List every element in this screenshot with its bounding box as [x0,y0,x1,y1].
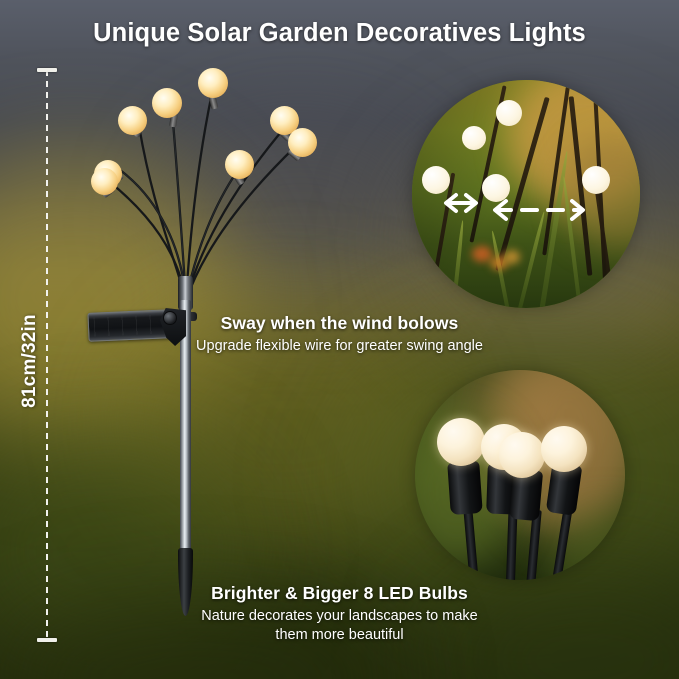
feature-image-sway [412,80,640,308]
led-bulb [91,168,118,195]
feature-image-bulbs [415,370,625,580]
feature-subtext: Upgrade flexible wire for greater swing … [0,337,679,356]
feature-subtext-line1: Nature decorates your landscapes to make [0,607,679,626]
sway-annotation-arrows [412,80,640,308]
led-bulb-closeup [437,418,485,466]
bulb-holder [447,461,483,515]
led-bulb-closeup [499,432,545,478]
led-bulb [118,106,147,135]
led-bulb [198,68,228,98]
feature-heading: Sway when the wind bolows [0,313,679,334]
feature-heading: Brighter & Bigger 8 LED Bulbs [0,583,679,604]
feature-subtext-line2: them more beautiful [0,626,679,645]
product-infographic: Unique Solar Garden Decoratives Lights 8… [0,0,679,679]
feature-caption-sway: Sway when the wind bolows Upgrade flexib… [0,313,679,356]
led-bulb-closeup [541,426,587,472]
feature-caption-bulbs: Brighter & Bigger 8 LED Bulbs Nature dec… [0,583,679,644]
led-bulb [288,128,317,157]
led-bulb [225,150,254,179]
led-bulb [152,88,182,118]
